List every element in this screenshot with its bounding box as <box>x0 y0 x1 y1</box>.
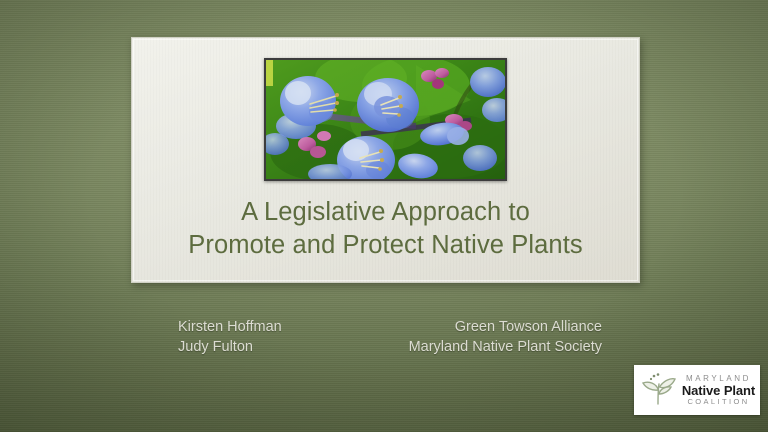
credits-block: Kirsten Hoffman Green Towson Alliance Ju… <box>178 317 602 357</box>
title-card: A Legislative Approach to Promote and Pr… <box>131 37 640 283</box>
logo-line-maryland: MARYLAND <box>679 375 758 383</box>
logo-text: MARYLAND Native Plant COALITION <box>678 375 758 406</box>
logo-line-coalition: COALITION <box>679 398 758 406</box>
logo-line-native-plant: Native Plant <box>679 384 758 397</box>
credit-organization: Green Towson Alliance <box>455 317 602 337</box>
credit-organization: Maryland Native Plant Society <box>409 337 602 357</box>
maryland-native-plant-coalition-logo: MARYLAND Native Plant COALITION <box>634 365 760 415</box>
flower-photo <box>264 58 507 181</box>
credit-person: Judy Fulton <box>178 337 253 357</box>
page-title: A Legislative Approach to Promote and Pr… <box>132 196 639 262</box>
credit-row: Kirsten Hoffman Green Towson Alliance <box>178 317 602 337</box>
title-line-1: A Legislative Approach to <box>132 196 639 229</box>
title-line-2: Promote and Protect Native Plants <box>132 229 639 262</box>
presentation-slide: A Legislative Approach to Promote and Pr… <box>0 0 768 432</box>
plant-sprout-icon <box>638 370 678 410</box>
credit-row: Judy Fulton Maryland Native Plant Societ… <box>178 337 602 357</box>
credit-person: Kirsten Hoffman <box>178 317 282 337</box>
